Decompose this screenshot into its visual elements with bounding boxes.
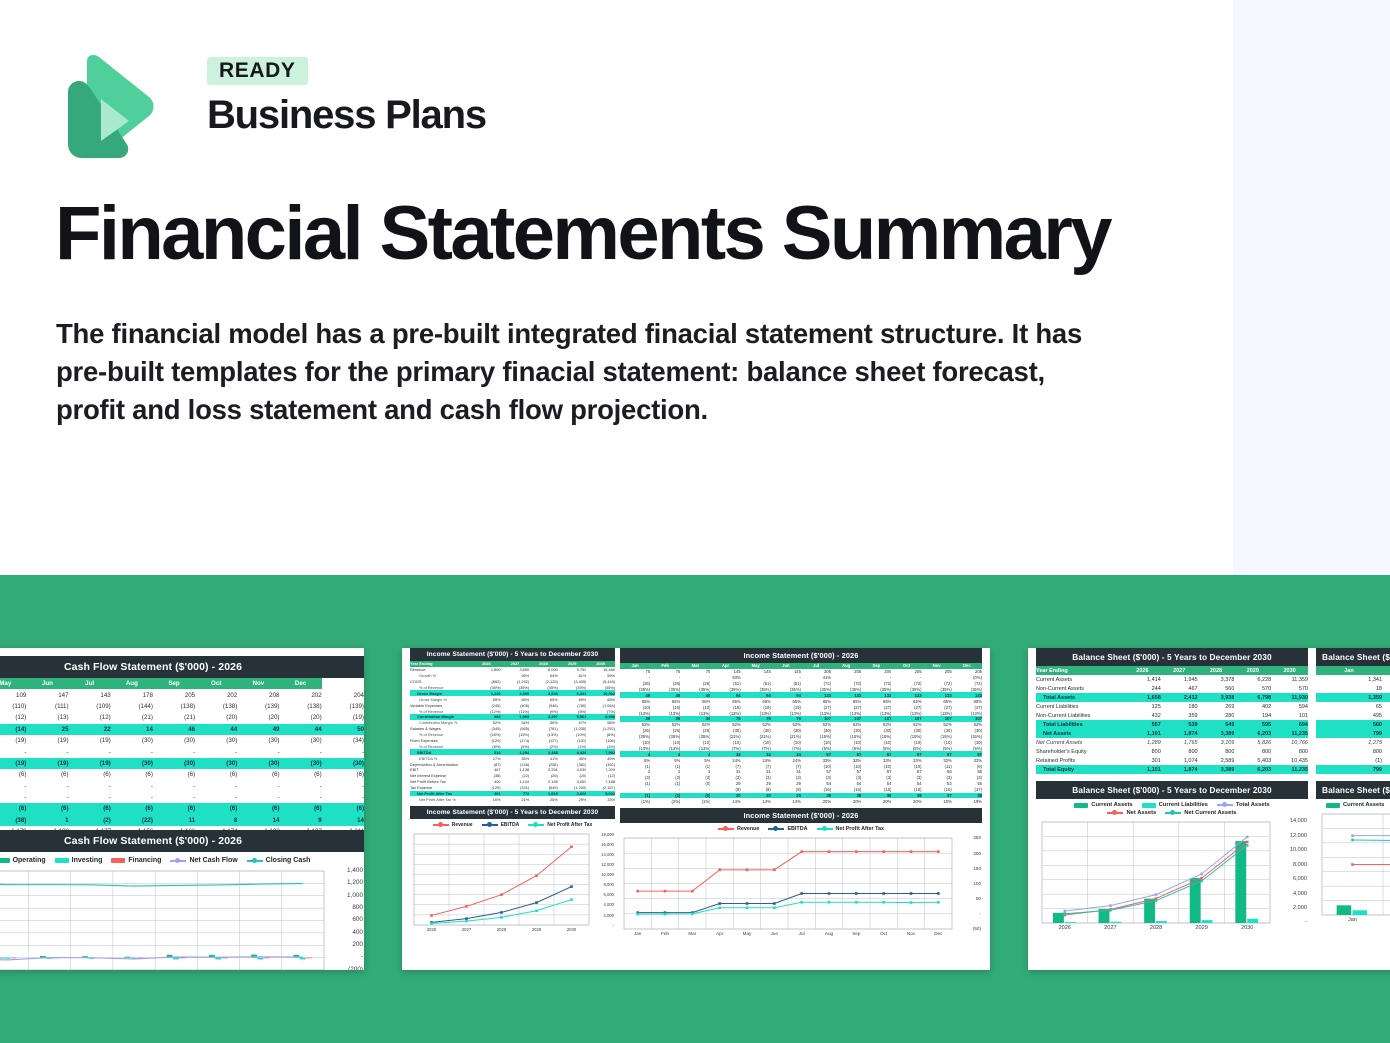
table-cell: 1,289 [1124, 738, 1161, 747]
table-cell: 1,874 [1161, 765, 1198, 774]
column-header: Oct [195, 678, 237, 689]
table-cell: 280 [1198, 711, 1235, 720]
table-cell: 539 [1161, 720, 1198, 729]
table-cell: 1,101 [1124, 765, 1161, 774]
table-cell: - [237, 792, 279, 803]
table-row: 1,2751,251 [1316, 738, 1390, 747]
y-axis-tick: 100 [953, 881, 981, 886]
table-cell: - [322, 781, 364, 792]
table-cell: (6) [280, 769, 322, 780]
table-cell: 125 [1124, 702, 1161, 711]
balance-2026-table-title: Balance Sheet ($'000) - 2026 [1316, 648, 1390, 666]
balance-screenshot-card[interactable]: Balance Sheet ($'000) - 5 Years to Decem… [1028, 648, 1390, 970]
income-5y-table: Year Ending20262027202820292030Revenue1,… [410, 661, 615, 802]
legend-label: Net Assets [1126, 810, 1156, 816]
y-axis-tick: 8,000 [590, 882, 614, 887]
column-header: 2028 [1198, 666, 1235, 675]
x-axis-tick: Oct [870, 931, 897, 936]
y-axis-tick: 800 [325, 904, 363, 911]
table-cell: 1,251 [1382, 738, 1390, 747]
y-axis-tick: 4,000 [590, 902, 614, 907]
column-header: Year Ending [1036, 666, 1124, 675]
table-row: 1836 [1316, 684, 1390, 693]
table-cell: - [280, 792, 322, 803]
table-cell: 1 [26, 815, 68, 826]
table-cell: - [26, 746, 68, 757]
column-header: 2029 [1234, 666, 1271, 675]
table-cell: 109 [0, 689, 26, 700]
row-label: Shareholder's Equity [1036, 747, 1124, 756]
table-cell: 798 [1382, 765, 1390, 774]
legend-swatch [170, 860, 186, 862]
table-row: Current Assets1,4141,9453,3786,22811,359 [1036, 675, 1308, 684]
table-cell: 1,341 [1316, 675, 1382, 684]
play-triangle-logo-icon [57, 55, 155, 165]
table-cell: 269 [1198, 702, 1235, 711]
table-cell: (30) [237, 735, 279, 746]
table-cell: (6) [322, 803, 364, 814]
table-cell: 194 [1234, 711, 1271, 720]
table-row: Net Assets1,1011,8743,3896,20311,235 [1036, 729, 1308, 738]
row-label: Total Equity [1036, 765, 1124, 774]
table-cell: 570 [1234, 684, 1271, 693]
x-axis-tick: 2030 [1224, 925, 1270, 931]
row-label: Non-Current Liabilities [1036, 711, 1124, 720]
table-row: Net Profit After Tax %16%21%25%29%33% [410, 796, 615, 802]
table-cell: (21) [153, 712, 195, 723]
table-cell: (6) [69, 769, 111, 780]
table-cell: - [322, 792, 364, 803]
table-cell: 6,228 [1234, 675, 1271, 684]
table-cell: 19% [952, 798, 982, 804]
column-header: Dec [280, 678, 322, 689]
table-cell: (20) [237, 712, 279, 723]
table-cell: (110) [0, 701, 26, 712]
table-cell: (6) [111, 803, 153, 814]
table-cell: (6) [26, 769, 68, 780]
legend-swatch [111, 858, 125, 863]
table-cell: 208 [237, 689, 279, 700]
legend-item: EBITDA [482, 822, 520, 828]
table-cell: 10,435 [1271, 756, 1308, 765]
table-cell: 101 [1271, 711, 1308, 720]
table-cell: (109) [69, 701, 111, 712]
y-axis-tick: 50 [953, 896, 981, 901]
legend-swatch [817, 828, 833, 830]
table-cell: (30) [111, 758, 153, 769]
table-cell: (6) [0, 803, 26, 814]
y-axis-tick: 200 [325, 941, 363, 948]
legend-label: EBITDA [787, 826, 807, 832]
legend-swatch [1217, 804, 1233, 806]
table-cell: 6,798 [1234, 693, 1271, 702]
table-row: Net Current Assets1,2891,7653,1095,82610… [1036, 738, 1308, 747]
table-row: Non-Current Liabilities432359280194101 [1036, 711, 1308, 720]
table-cell: (6) [195, 769, 237, 780]
table-cell: (30) [280, 735, 322, 746]
table-cell: 6,203 [1234, 765, 1271, 774]
table-row: 1,3591,359 [1316, 693, 1390, 702]
y-axis-tick: 6,000 [1271, 876, 1307, 882]
table-cell: (30) [153, 758, 195, 769]
table-cell: (6) [237, 803, 279, 814]
table-cell: 202 [280, 689, 322, 700]
cashflow-chart-plot: 1,4001,2001,000800600400200-(200)AprMayJ… [0, 867, 364, 970]
cashflow-screenshot-card[interactable]: Cash Flow Statement ($'000) - 2026 AprMa… [0, 648, 364, 970]
table-cell: - [195, 746, 237, 757]
table-cell: 11,235 [1271, 729, 1308, 738]
legend-item: Net Profit After Tax [817, 826, 885, 832]
legend-label: Net Current Assets [1184, 810, 1236, 816]
legend-item: Financing [111, 857, 161, 864]
table-cell: 402 [1234, 702, 1271, 711]
table-cell: 11,359 [1271, 675, 1308, 684]
table-cell: - [26, 781, 68, 792]
table-cell: 800 [1271, 747, 1308, 756]
legend-item: Net Profit After Tax [528, 822, 592, 828]
table-row: 799798 [1316, 729, 1390, 738]
income-2026-table-title: Income Statement ($'000) - 2026 [620, 648, 982, 663]
table-cell: 560 [1316, 720, 1382, 729]
table-cell: 20% [861, 798, 891, 804]
table-cell: - [26, 792, 68, 803]
legend-swatch [528, 824, 544, 826]
table-cell: 14% [771, 798, 801, 804]
table-cell: 3,938 [1198, 693, 1235, 702]
table-cell: (139) [237, 701, 279, 712]
table-cell: 3,389 [1198, 765, 1235, 774]
table-row: (23)(38)1(2)(22)11814914 [0, 815, 364, 826]
x-axis-tick: Apr [706, 931, 733, 936]
x-axis-tick: 2026 [1042, 925, 1088, 931]
table-cell: (138) [195, 701, 237, 712]
legend-item: Investing [55, 857, 103, 864]
table-cell: 467 [1161, 684, 1198, 693]
table-row: (75)(110)(111)(109)(144)(138)(138)(139)(… [0, 701, 364, 712]
x-axis-tick: 2027 [449, 927, 484, 932]
table-cell: 1,359 [1382, 693, 1390, 702]
table-cell: (19) [69, 758, 111, 769]
table-cell: (2) [69, 815, 111, 826]
table-row: 1,3411,323 [1316, 675, 1390, 684]
table-row: 1(14)2522144644494450 [0, 724, 364, 735]
y-axis-tick: 8,000 [1271, 862, 1307, 868]
table-cell: 798 [1382, 729, 1390, 738]
legend-swatch [482, 824, 498, 826]
legend-item: Revenue [433, 822, 473, 828]
income-5y-chart-legend: RevenueEBITDANet Profit After Tax [410, 819, 615, 830]
table-cell: 204 [322, 689, 364, 700]
table-cell: - [69, 792, 111, 803]
income-2026-chart-title: Income Statement ($'000) - 2026 [620, 808, 982, 823]
x-axis-tick: Nov [897, 931, 924, 936]
table-cell: 147 [26, 689, 68, 700]
legend-item: Current Liabilities [1142, 802, 1208, 808]
table-cell: 432 [1124, 711, 1161, 720]
row-label: Net Profit After Tax % [410, 796, 472, 802]
table-cell: 14% [710, 798, 740, 804]
column-header: Sep [153, 678, 195, 689]
table-cell: - [111, 746, 153, 757]
table-cell: - [280, 746, 322, 757]
y-axis-tick: 14,000 [590, 852, 614, 857]
table-cell: (2%) [650, 798, 680, 804]
legend-label: Net Profit After Tax [547, 822, 592, 828]
balance-5y-table: Year Ending20262027202820292030Current A… [1036, 666, 1308, 774]
table-cell: - [111, 781, 153, 792]
table-cell: 14 [322, 815, 364, 826]
table-cell: 570 [1271, 684, 1308, 693]
table-cell: 800 [1316, 747, 1382, 756]
income-5y-table-title: Income Statement ($'000) - 5 Years to De… [410, 648, 615, 661]
table-cell: 14% [741, 798, 771, 804]
column-header: Nov [237, 678, 279, 689]
table-cell: 800 [1198, 747, 1235, 756]
legend-swatch [1142, 803, 1156, 808]
table-cell: (12) [69, 712, 111, 723]
income-5y-pane: Income Statement ($'000) - 5 Years to De… [410, 648, 615, 970]
legend-swatch [433, 824, 449, 826]
table-cell: 25 [26, 724, 68, 735]
table-row: (19)(19)(19)(19)(30)(30)(30)(30)(30)(30) [0, 758, 364, 769]
table-cell: - [195, 792, 237, 803]
table-cell: 143 [69, 689, 111, 700]
legend-item: Net Assets [1107, 810, 1156, 816]
table-header-row: AprMayJunJulAugSepOctNovDec [0, 678, 364, 689]
legend-swatch [768, 828, 784, 830]
y-axis-tick: - [325, 953, 363, 960]
table-cell: 800 [1161, 747, 1198, 756]
table-cell: 205 [153, 689, 195, 700]
table-row: ---------- [0, 781, 364, 792]
right-tint-panel [1233, 0, 1390, 576]
table-cell: 21% [501, 796, 530, 802]
table-cell: 2,589 [1198, 756, 1235, 765]
y-axis-tick: - [1271, 919, 1307, 925]
table-cell: 20% [891, 798, 921, 804]
legend-label: Net Profit After Tax [836, 826, 885, 832]
table-cell: (6) [69, 803, 111, 814]
table-cell: 800 [1124, 747, 1161, 756]
table-cell: 36 [1382, 684, 1390, 693]
table-cell: 18 [1316, 684, 1382, 693]
legend-label: Operating [13, 857, 46, 864]
table-row: (19)(19)(19)(19)(30)(30)(30)(30)(30)(34) [0, 735, 364, 746]
row-label: Net Assets [1036, 729, 1124, 738]
legend-item: Net Current Assets [1165, 810, 1236, 816]
legend-label: Investing [72, 857, 103, 864]
table-cell: 3,109 [1198, 738, 1235, 747]
y-axis-tick: 2,000 [590, 913, 614, 918]
income-5y-chart-plot: 18,00016,00014,00012,00010,0008,0006,000… [410, 830, 615, 937]
table-cell: 178 [111, 689, 153, 700]
table-cell: 799 [1316, 729, 1382, 738]
table-cell: 3,378 [1198, 675, 1235, 684]
legend-swatch [1074, 803, 1088, 808]
income-2026-chart-legend: RevenueEBITDANet Profit After Tax [620, 823, 982, 834]
ready-badge: READY [207, 57, 308, 85]
table-cell: 1,874 [1161, 729, 1198, 738]
table-cell: 180 [1161, 702, 1198, 711]
table-cell: 2,412 [1161, 693, 1198, 702]
balance-2026-chart-legend: Current Assets [1316, 799, 1390, 810]
table-row: (6)(6)(6)(6)(6)(6)(6)(6)(6)(6) [0, 769, 364, 780]
table-cell: (138) [280, 701, 322, 712]
table-cell: 10,766 [1271, 738, 1308, 747]
row-label: Net Current Assets [1036, 738, 1124, 747]
table-cell: 800 [1382, 747, 1390, 756]
table-cell: 495 [1316, 711, 1382, 720]
table-cell: (1) [1316, 756, 1382, 765]
table-cell: 1,414 [1124, 675, 1161, 684]
y-axis-tick: 10,000 [1271, 847, 1307, 853]
table-cell: 1,101 [1124, 729, 1161, 738]
table-row: ---------- [0, 746, 364, 757]
balance-2026-chart-plot: JanFeb [1316, 810, 1390, 928]
cashflow-table: AprMayJunJulAugSepOctNovDec7910914714317… [0, 678, 364, 837]
table-cell: 694 [1271, 720, 1308, 729]
y-axis-tick: 200 [953, 851, 981, 856]
table-cell: 560 [1198, 684, 1235, 693]
x-axis-tick: Jun [761, 931, 788, 936]
table-cell: (14) [0, 724, 26, 735]
table-cell: (30) [153, 735, 195, 746]
x-axis-tick: 2027 [1088, 925, 1134, 931]
x-axis-tick: Jan [1322, 917, 1383, 923]
income-2026-table: JanFebMarAprMayJunJulAugSepOctNovDec7575… [620, 663, 982, 804]
table-cell: - [237, 781, 279, 792]
y-axis-tick: (200) [325, 966, 363, 970]
table-cell: 1,074 [1161, 756, 1198, 765]
table-cell: 11,235 [1271, 765, 1308, 774]
legend-label: Financing [128, 857, 161, 864]
x-axis-tick: 2028 [1133, 925, 1179, 931]
brand-logo[interactable]: READY Business Plans [57, 55, 557, 165]
table-cell: 799 [1316, 765, 1382, 774]
table-cell: (6) [153, 803, 195, 814]
table-cell: 11 [153, 815, 195, 826]
table-cell: 14 [111, 724, 153, 735]
table-cell: (21) [111, 712, 153, 723]
table-cell: - [153, 746, 195, 757]
table-cell: (30) [111, 735, 153, 746]
table-row: Shareholder's Equity800800800800800 [1036, 747, 1308, 756]
x-axis-tick: Jan [624, 931, 651, 936]
table-cell: - [322, 746, 364, 757]
table-cell: - [0, 792, 26, 803]
x-axis-tick: Sep [843, 931, 870, 936]
table-cell: 561 [1382, 720, 1390, 729]
legend-item: Revenue [718, 826, 759, 832]
table-cell: (6) [111, 769, 153, 780]
table-row: Total Equity1,1011,8743,3896,20311,235 [1036, 765, 1308, 774]
hero-description: The financial model has a pre-built inte… [56, 315, 1096, 430]
y-axis-tick: (50) [953, 926, 981, 931]
table-row: Retained Profits3011,0742,5895,40310,435 [1036, 756, 1308, 765]
table-cell: (30) [237, 758, 279, 769]
table-cell: (22) [111, 815, 153, 826]
table-cell: 1,323 [1382, 675, 1390, 684]
y-axis-tick: 1,400 [325, 867, 363, 874]
table-row: (1%)(2%)(1%)14%14%14%20%20%20%20%18%19% [620, 798, 982, 804]
table-cell: 65 [1316, 702, 1382, 711]
legend-label: Current Assets [1091, 802, 1132, 808]
table-cell: 244 [1124, 684, 1161, 693]
table-cell: (30) [195, 735, 237, 746]
x-axis-tick: 2029 [1179, 925, 1225, 931]
table-cell: 595 [1234, 720, 1271, 729]
table-cell: (1%) [680, 798, 710, 804]
table-cell: - [195, 781, 237, 792]
table-cell: - [69, 746, 111, 757]
table-cell: - [69, 781, 111, 792]
table-cell: 46 [153, 724, 195, 735]
table-cell: (6) [153, 769, 195, 780]
y-axis-tick: 10,000 [590, 872, 614, 877]
table-cell: (6) [26, 803, 68, 814]
column-header: 2030 [1271, 666, 1308, 675]
row-label: Retained Profits [1036, 756, 1124, 765]
legend-label: Total Assets [1236, 802, 1270, 808]
income-screenshot-card[interactable]: Income Statement ($'000) - 5 Years to De… [402, 648, 990, 970]
balance-5y-table-title: Balance Sheet ($'000) - 5 Years to Decem… [1036, 648, 1308, 666]
table-row: ---------- [0, 792, 364, 803]
y-axis-tick: - [953, 911, 981, 916]
table-row: Current Liabilities125180269402594 [1036, 702, 1308, 711]
table-cell: (20) [195, 712, 237, 723]
table-cell: (19) [26, 758, 68, 769]
row-label: Current Assets [1036, 675, 1124, 684]
legend-swatch [718, 828, 734, 830]
table-cell: 489 [1382, 711, 1390, 720]
balance-5y-chart-plot: 14,00012,00010,0008,0006,0004,0002,000-2… [1036, 818, 1308, 936]
table-cell: (30) [322, 758, 364, 769]
legend-swatch [1107, 812, 1123, 814]
y-axis-tick: 16,000 [590, 842, 614, 847]
legend-item: Current Assets [1074, 802, 1132, 808]
column-header: Jun [26, 678, 68, 689]
table-cell: 29% [558, 796, 587, 802]
table-cell: 44 [195, 724, 237, 735]
table-cell: (19) [0, 758, 26, 769]
table-cell: - [0, 781, 26, 792]
table-cell: (6) [322, 769, 364, 780]
table-header-row: Year Ending20262027202820292030 [1036, 666, 1308, 675]
table-cell: 1,765 [1161, 738, 1198, 747]
legend-swatch [0, 858, 10, 863]
table-cell: (19) [26, 735, 68, 746]
table-cell: (6) [195, 803, 237, 814]
balance-5y-chart-legend-row1: Current AssetsCurrent LiabilitiesTotal A… [1036, 799, 1308, 808]
balance-5y-pane: Balance Sheet ($'000) - 5 Years to Decem… [1036, 648, 1308, 970]
table-cell: - [111, 792, 153, 803]
column-header: Jan [1316, 666, 1382, 675]
legend-swatch [247, 860, 263, 862]
table-row: (1)(2) [1316, 756, 1390, 765]
y-axis-tick: 4,000 [1271, 891, 1307, 897]
column-header: Feb [1382, 666, 1390, 675]
y-axis-tick: 400 [325, 929, 363, 936]
legend-swatch [1165, 812, 1181, 814]
legend-swatch [55, 858, 69, 863]
table-cell: 20% [831, 798, 861, 804]
row-label: Non-Current Assets [1036, 684, 1124, 693]
balance-5y-chart-legend-row2: Net AssetsNet Current Assets [1036, 808, 1308, 818]
legend-item: EBITDA [768, 826, 807, 832]
income-2026-pane: Income Statement ($'000) - 2026 JanFebMa… [620, 648, 982, 970]
table-cell: 202 [195, 689, 237, 700]
table-cell: (6) [280, 803, 322, 814]
